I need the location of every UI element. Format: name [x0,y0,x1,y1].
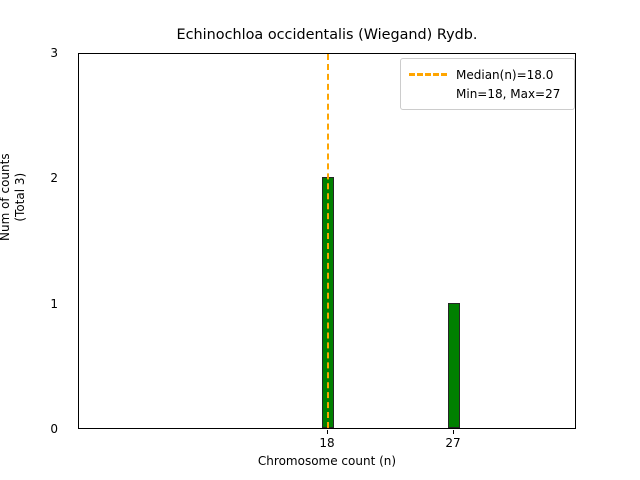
x-tick-mark-18 [327,430,328,434]
plot-inner [79,54,575,428]
y-axis-label-line2: (Total 3) [13,153,28,241]
chart-figure: Echinochloa occidentalis (Wiegand) Rydb.… [0,0,640,480]
median-line [327,54,329,428]
x-axis-label: Chromosome count (n) [78,454,576,468]
legend-entry-minmax: Min=18, Max=27 [409,84,566,103]
y-tick-label-1: 1 [0,297,58,311]
x-tick-label-27: 27 [445,436,460,450]
bar-27 [448,303,460,428]
y-tick-label-3: 3 [0,46,58,60]
y-tick-label-0: 0 [0,422,58,436]
y-axis-label-line1: Num of counts [0,153,13,241]
legend-entry-median: Median(n)=18.0 [409,65,566,84]
dashed-line-icon [409,73,447,76]
x-tick-label-18: 18 [319,436,334,450]
legend: Median(n)=18.0 Min=18, Max=27 [400,58,575,110]
legend-label-median: Median(n)=18.0 [456,68,553,82]
x-tick-mark-27 [453,430,454,434]
legend-label-minmax: Min=18, Max=27 [456,87,560,101]
y-axis-label: Num of counts (Total 3) [0,153,28,241]
page-title: Echinochloa occidentalis (Wiegand) Rydb. [78,28,576,44]
